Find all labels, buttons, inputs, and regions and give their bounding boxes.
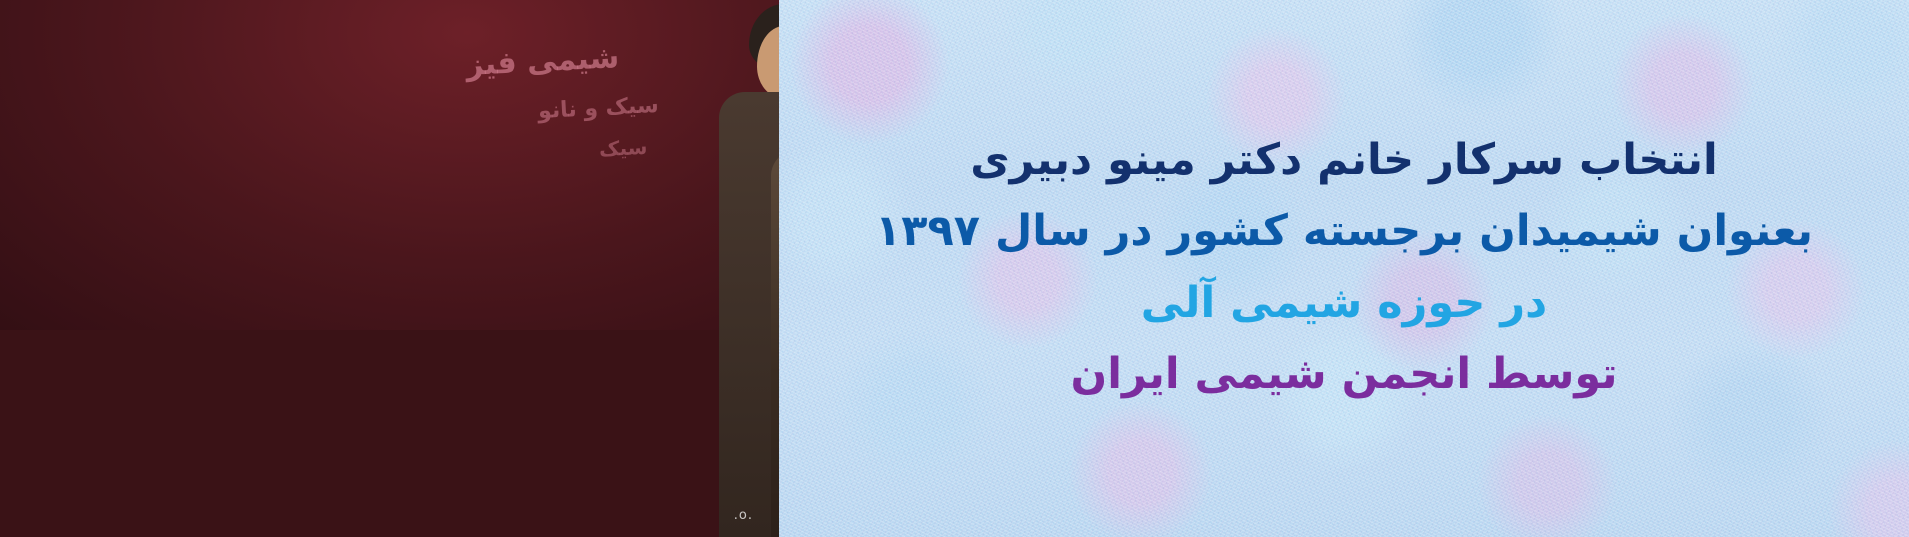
stage-backdrop: [0, 0, 779, 330]
headline-line-3: در حوزه شیمی آلی: [779, 281, 1909, 326]
backdrop-script-line-3: سیک: [598, 135, 648, 161]
ceremony-photograph: شیمی فیز سیک و نانو سیک: [0, 0, 779, 537]
photo-scene: شیمی فیز سیک و نانو سیک: [0, 0, 779, 537]
announcement-banner: انتخاب سرکار خانم دکتر مینو دبیری بعنوان…: [0, 0, 1909, 537]
headline-stack: انتخاب سرکار خانم دکتر مینو دبیری بعنوان…: [779, 0, 1909, 537]
text-panel: انتخاب سرکار خانم دکتر مینو دبیری بعنوان…: [779, 0, 1909, 537]
photo-watermark: .o.: [734, 508, 753, 523]
headline-line-1: انتخاب سرکار خانم دکتر مینو دبیری: [779, 138, 1909, 183]
headline-line-2: بعنوان شیمیدان برجسته کشور در سال ۱۳۹۷: [779, 209, 1909, 254]
headline-line-4: توسط انجمن شیمی ایران: [779, 352, 1909, 397]
